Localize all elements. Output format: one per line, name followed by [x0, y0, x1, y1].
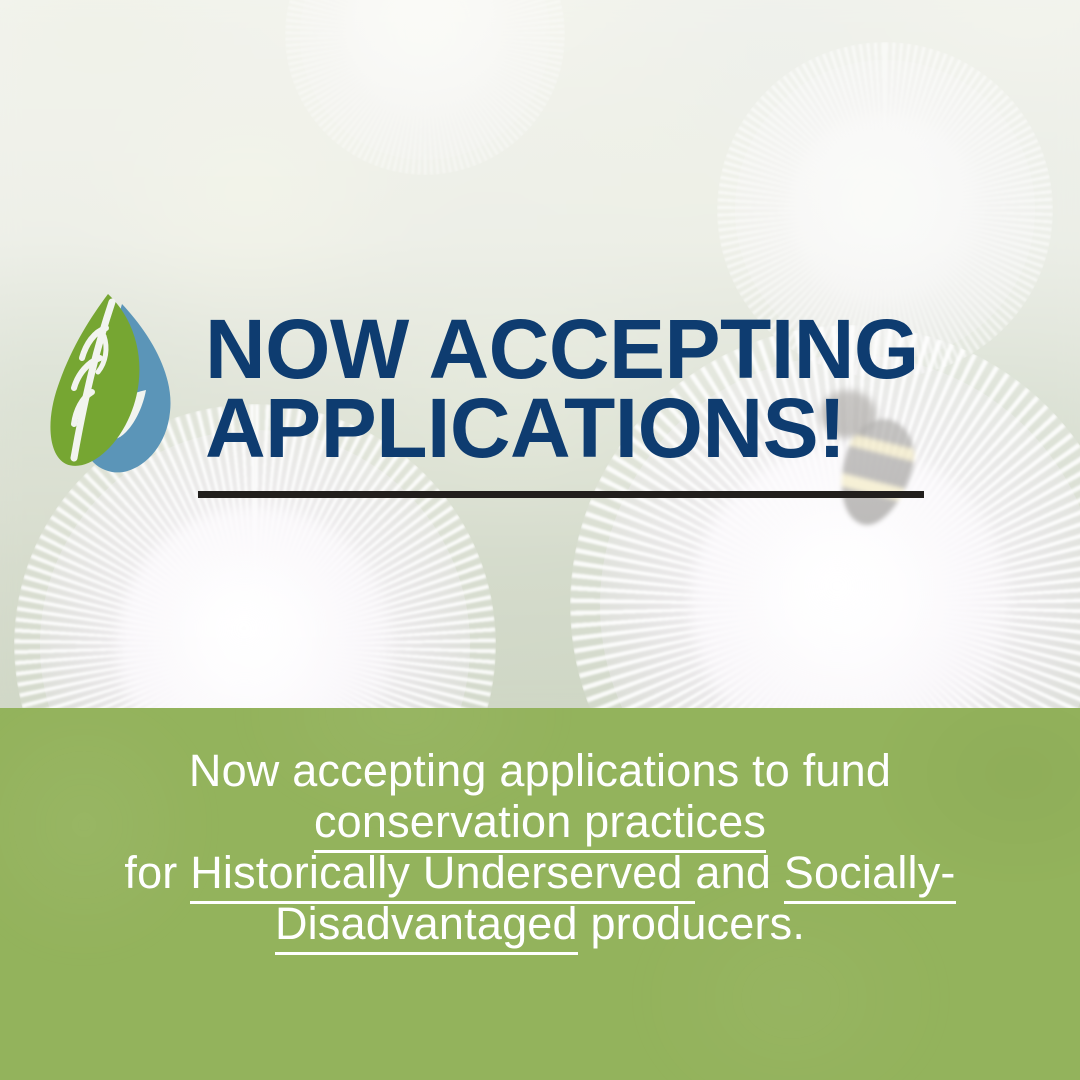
headline-divider [198, 491, 924, 498]
body-line: Now accepting applications to fund [0, 745, 1080, 796]
body-plain-text: for [124, 847, 190, 898]
body-emphasis-text: Socially- [784, 847, 956, 904]
body-plain-text: producers. [578, 898, 805, 949]
body-emphasis-text: conservation practices [314, 796, 766, 853]
leaf-and-water-droplet-logo [50, 286, 180, 494]
body-emphasis-text: Disadvantaged [275, 898, 578, 955]
body-plain-text: Now accepting applications to fund [189, 745, 891, 796]
body-copy: Now accepting applications to fund conse… [0, 745, 1080, 949]
body-line: for Historically Underserved and Sociall… [0, 847, 1080, 898]
body-plain-text: and [695, 847, 783, 898]
body-line: Disadvantaged producers. [0, 898, 1080, 949]
body-emphasis-text: Historically Underserved [190, 847, 695, 904]
headline-title: NOW ACCEPTING APPLICATIONS! [205, 310, 935, 468]
body-line: conservation practices [0, 796, 1080, 847]
poster-canvas: NOW ACCEPTING APPLICATIONS! Now acceptin… [0, 0, 1080, 1080]
